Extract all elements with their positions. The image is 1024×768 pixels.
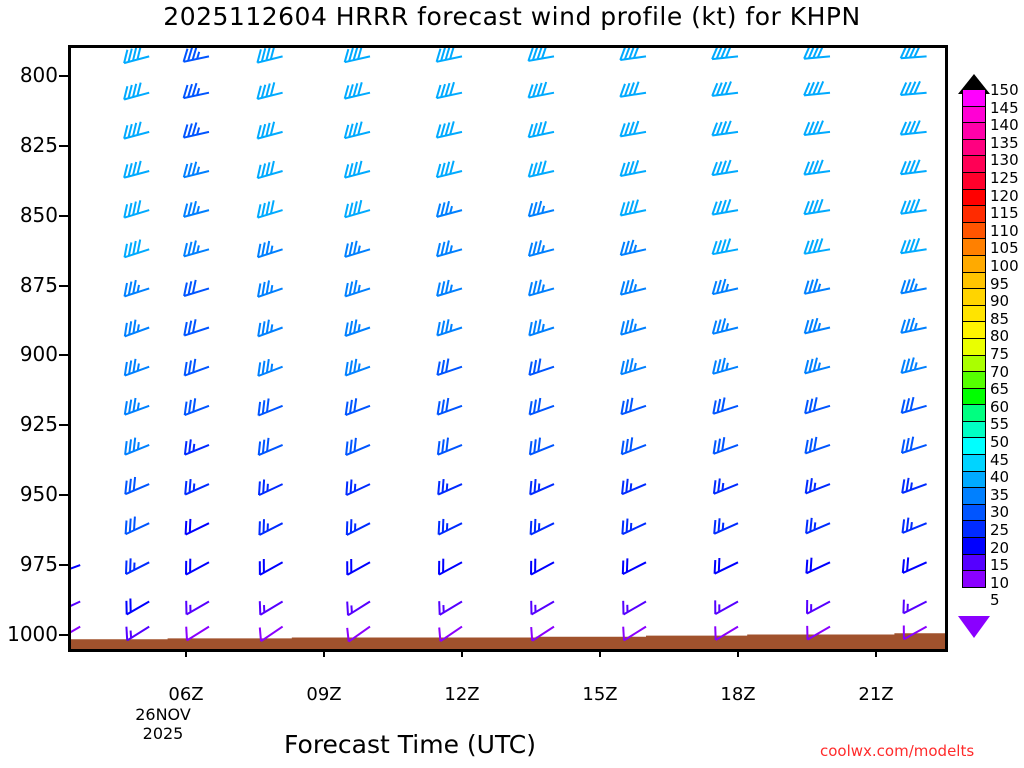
- barb-full: [623, 561, 624, 575]
- wind-barb: [807, 600, 830, 614]
- barb-full: [184, 243, 187, 256]
- colorbar-swatch: [962, 404, 986, 422]
- barb-full: [258, 244, 261, 257]
- barb-shaft: [124, 210, 149, 218]
- wind-barb: [712, 160, 738, 175]
- barb-full: [129, 439, 131, 453]
- watermark-link[interactable]: coolwx.com/modelts: [820, 742, 1020, 760]
- barb-full: [529, 362, 531, 376]
- barb-shaft: [345, 56, 370, 62]
- barb-full: [441, 163, 445, 176]
- wind-barb: [437, 82, 462, 98]
- wind-barb: [345, 122, 370, 139]
- barb-shaft: [804, 171, 830, 175]
- barb-shaft: [713, 249, 739, 254]
- colorbar-tick-label: 130: [990, 153, 1019, 168]
- barb-full: [906, 279, 910, 292]
- wind-barb: [621, 319, 646, 335]
- wind-barb: [530, 398, 554, 415]
- barb-full: [346, 402, 348, 416]
- barb-full: [258, 125, 261, 138]
- barb-full: [257, 49, 261, 62]
- barb-shaft: [184, 56, 209, 61]
- barb-full: [531, 521, 532, 535]
- wind-barb: [621, 200, 646, 216]
- barb-shaft: [71, 627, 80, 640]
- barb-full: [906, 319, 910, 332]
- wind-barb: [126, 558, 149, 574]
- wind-barb: [184, 83, 209, 98]
- wind-barb: [531, 601, 554, 615]
- barb-full: [258, 323, 260, 337]
- barb-full: [349, 84, 353, 97]
- x-axis-tick: [875, 649, 877, 657]
- barb-full: [538, 83, 542, 96]
- barb-full: [193, 241, 196, 254]
- barb-full: [535, 479, 536, 493]
- barb-half: [815, 522, 816, 529]
- barb-full: [903, 519, 905, 533]
- barb-full: [126, 627, 127, 641]
- barb-shaft: [902, 406, 927, 413]
- barb-full: [137, 83, 140, 96]
- barb-full: [626, 360, 629, 373]
- wind-barb: [714, 437, 738, 454]
- y-axis-tick: [59, 75, 68, 77]
- wind-barb: [185, 398, 209, 415]
- barb-full: [129, 49, 132, 62]
- colorbar[interactable]: [962, 90, 986, 588]
- barb-full: [534, 400, 536, 414]
- barb-shaft: [621, 171, 647, 176]
- barb-full: [347, 521, 348, 535]
- wind-barb: [345, 280, 370, 296]
- barb-full: [533, 242, 536, 255]
- colorbar-swatch: [962, 537, 986, 555]
- wind-barb: [804, 121, 830, 135]
- barb-half: [138, 364, 139, 371]
- wind-barb: [347, 559, 370, 575]
- barb-full: [534, 439, 536, 453]
- y-axis-tick-label: 800: [0, 63, 58, 87]
- barb-full: [713, 400, 716, 413]
- barb-full: [358, 200, 361, 213]
- barb-full: [345, 244, 348, 257]
- barb-full: [129, 163, 132, 176]
- wind-barb: [712, 121, 738, 136]
- barb-full: [185, 481, 186, 495]
- barb-full: [441, 84, 445, 97]
- barb-full: [358, 122, 362, 135]
- barb-full: [814, 239, 818, 252]
- barb-full: [903, 559, 904, 573]
- wind-barb: [529, 240, 554, 256]
- barb-full: [626, 479, 627, 493]
- barb-full: [129, 282, 132, 295]
- barb-half: [723, 523, 724, 530]
- barb-shaft: [124, 56, 149, 63]
- barb-full: [818, 48, 824, 57]
- wind-barb: [531, 559, 554, 575]
- wind-barb: [260, 601, 283, 615]
- colorbar-swatch: [962, 255, 986, 273]
- barb-full: [267, 399, 269, 413]
- colorbar-tick-label: 25: [990, 523, 1009, 538]
- barb-full: [259, 442, 260, 456]
- wind-barb: [623, 558, 646, 574]
- wind-barb: [257, 82, 282, 99]
- colorbar-tick-label: 145: [990, 101, 1019, 116]
- barb-full: [533, 202, 537, 215]
- barb-full: [258, 204, 261, 217]
- barb-full: [625, 202, 629, 215]
- y-axis-tick: [59, 494, 68, 496]
- wind-barb: [259, 480, 283, 496]
- barb-full: [814, 318, 818, 331]
- barb-shaft: [438, 445, 462, 455]
- barb-full: [137, 161, 140, 174]
- barb-full: [354, 398, 356, 412]
- barb-full: [125, 323, 127, 337]
- barb-full: [257, 86, 261, 99]
- barb-full: [630, 201, 634, 214]
- barb-full: [262, 242, 265, 256]
- colorbar-swatch: [962, 421, 986, 439]
- barb-full: [621, 202, 625, 215]
- barb-shaft: [258, 328, 282, 337]
- barb-shaft: [345, 210, 370, 217]
- wind-barb: [437, 161, 462, 178]
- wind-barb: [902, 478, 926, 493]
- barb-full: [630, 358, 633, 371]
- wind-barb: [345, 161, 370, 178]
- barb-full: [531, 627, 532, 641]
- barb-full: [722, 437, 724, 451]
- barb-shaft: [901, 171, 927, 174]
- barb-half: [138, 324, 139, 331]
- colorbar-swatch: [962, 520, 986, 538]
- wind-barb: [901, 318, 926, 333]
- barb-full: [534, 321, 537, 334]
- colorbar-swatch: [962, 570, 986, 588]
- barb-full: [190, 479, 191, 493]
- wind-barb: [345, 320, 370, 337]
- barb-shaft: [345, 132, 370, 138]
- barb-shaft: [124, 93, 149, 100]
- barb-shaft: [804, 249, 830, 254]
- wind-barb: [621, 279, 646, 295]
- wind-barb: [622, 519, 646, 535]
- wind-barb: [347, 602, 370, 616]
- barb-full: [443, 519, 444, 533]
- barb-half: [539, 484, 540, 491]
- barb-full: [437, 322, 440, 336]
- barb-full: [133, 84, 136, 97]
- y-axis-tick-label: 900: [0, 342, 58, 366]
- wind-barb: [805, 358, 830, 374]
- wind-barb: [902, 397, 927, 413]
- barb-shaft: [713, 367, 738, 374]
- barb-full: [901, 320, 905, 333]
- wind-barb: [185, 439, 209, 454]
- barb-shaft: [125, 367, 149, 376]
- wind-barb: [712, 48, 738, 59]
- barb-full: [911, 397, 914, 410]
- barb-half: [131, 631, 132, 638]
- barb-full: [630, 161, 634, 174]
- x-axis-tick: [323, 649, 325, 657]
- barb-full: [262, 203, 265, 216]
- barb-full: [184, 164, 188, 177]
- colorbar-tick-label: 70: [990, 365, 1009, 380]
- barb-full: [189, 281, 192, 294]
- barb-full: [804, 241, 808, 254]
- barb-full: [902, 440, 905, 454]
- barb-shaft: [529, 249, 554, 256]
- barb-full: [621, 242, 625, 255]
- barb-full: [533, 281, 536, 294]
- wind-barb: [345, 82, 370, 98]
- barb-half: [542, 324, 543, 331]
- barb-shaft: [437, 132, 462, 138]
- x-axis-tick-label: 09Z: [284, 684, 364, 705]
- barb-full: [124, 86, 127, 99]
- wind-barb: [185, 359, 209, 376]
- barb-full: [533, 48, 537, 60]
- colorbar-tick-label: 5: [990, 593, 1000, 608]
- barb-full: [259, 402, 261, 416]
- wind-barb: [901, 199, 927, 214]
- barb-full: [814, 358, 817, 371]
- wind-barb: [713, 279, 738, 294]
- barb-full: [263, 361, 265, 375]
- barb-full: [133, 48, 136, 61]
- barb-full: [634, 160, 638, 173]
- wind-barb: [806, 518, 830, 534]
- barb-full: [806, 520, 807, 534]
- barb-shaft: [185, 445, 209, 455]
- wind-barb: [439, 601, 462, 615]
- x-axis-tick-label: 15Z: [560, 684, 640, 705]
- barb-full: [189, 321, 192, 334]
- barb-full: [621, 401, 623, 415]
- barb-full: [186, 627, 187, 641]
- barb-half: [447, 484, 448, 491]
- colorbar-swatch: [962, 388, 986, 406]
- barb-half: [194, 484, 195, 491]
- barb-full: [358, 161, 361, 174]
- barb-full: [260, 628, 261, 642]
- barb-shaft: [124, 171, 149, 178]
- barb-shaft: [437, 93, 462, 98]
- barb-shaft: [530, 406, 554, 415]
- wind-barb: [620, 121, 646, 136]
- barb-shaft: [529, 288, 554, 295]
- barb-full: [622, 441, 624, 455]
- barb-full: [542, 82, 546, 95]
- barb-shaft: [345, 288, 370, 296]
- barb-half: [358, 285, 359, 292]
- barb-full: [345, 323, 347, 337]
- barb-full: [726, 160, 731, 173]
- barb-full: [450, 161, 454, 174]
- barb-full: [351, 519, 352, 533]
- barb-full: [622, 521, 623, 535]
- barb-shaft: [258, 132, 283, 139]
- wind-barb: [184, 319, 209, 335]
- barb-full: [717, 201, 721, 214]
- barb-full: [806, 560, 807, 574]
- colorbar-tick-label: 140: [990, 118, 1019, 133]
- barb-full: [621, 321, 624, 334]
- barb-shaft: [804, 210, 830, 214]
- barb-shaft: [805, 367, 830, 374]
- barb-full: [134, 477, 135, 491]
- barb-full: [818, 199, 823, 212]
- barb-shaft: [620, 132, 646, 137]
- barb-full: [346, 481, 347, 495]
- barb-full: [189, 400, 191, 414]
- wind-barb: [901, 160, 927, 174]
- barb-full: [125, 244, 128, 257]
- wind-barb: [714, 479, 738, 494]
- barb-half: [631, 523, 632, 530]
- barb-full: [630, 437, 632, 451]
- barb-full: [259, 481, 260, 495]
- barb-full: [715, 560, 716, 574]
- barb-full: [125, 481, 126, 495]
- barb-shaft: [437, 288, 462, 296]
- barb-full: [538, 48, 542, 59]
- barb-full: [184, 322, 187, 336]
- barb-shaft: [713, 288, 738, 294]
- barb-full: [712, 202, 716, 215]
- y-axis-tick: [59, 564, 68, 566]
- barb-full: [529, 282, 532, 295]
- barb-full: [124, 50, 127, 63]
- barb-shaft: [184, 328, 209, 336]
- barb-full: [441, 48, 445, 61]
- colorbar-tick-label: 80: [990, 329, 1009, 344]
- barb-shaft: [528, 56, 554, 61]
- barb-full: [809, 240, 813, 253]
- barb-full: [529, 203, 533, 216]
- barb-full: [806, 480, 808, 494]
- wind-barb: [438, 479, 462, 495]
- barb-shaft: [437, 328, 462, 336]
- barb-shaft: [901, 288, 927, 293]
- wind-barb: [258, 122, 283, 139]
- barb-full: [184, 85, 188, 98]
- barb-shaft: [621, 367, 646, 375]
- barb-full: [130, 519, 131, 533]
- barb-full: [538, 122, 542, 135]
- barb-full: [714, 520, 715, 534]
- barb-shaft: [712, 210, 738, 215]
- barb-full: [529, 85, 533, 98]
- barb-full: [262, 85, 266, 98]
- barb-shaft: [346, 406, 370, 415]
- barb-full: [133, 359, 135, 373]
- barb-full: [542, 121, 546, 134]
- barb-shaft: [437, 56, 462, 61]
- barb-full: [621, 361, 624, 374]
- barb-full: [263, 480, 264, 494]
- barb-full: [538, 319, 541, 332]
- barb-full: [809, 280, 813, 293]
- barb-shaft: [903, 562, 927, 573]
- wind-barb: [258, 241, 283, 257]
- barb-full: [271, 200, 274, 213]
- colorbar-tick-label: 85: [990, 312, 1009, 327]
- wind-barb: [259, 519, 282, 535]
- wind-barb: [903, 518, 927, 533]
- barb-full: [528, 48, 532, 61]
- wind-barb: [529, 161, 554, 177]
- barb-full: [446, 241, 449, 254]
- barb-shaft: [71, 565, 80, 574]
- y-axis-tick-label: 825: [0, 133, 58, 157]
- barb-shaft: [529, 93, 555, 98]
- barb-full: [717, 240, 721, 253]
- wind-barb: [71, 559, 80, 574]
- colorbar-tick-label: 105: [990, 241, 1019, 256]
- barb-shaft: [530, 445, 554, 455]
- colorbar-tick-label: 50: [990, 435, 1009, 450]
- barb-full: [903, 600, 904, 614]
- barb-full: [258, 362, 260, 376]
- barb-full: [133, 398, 135, 412]
- barb-full: [810, 399, 813, 412]
- barb-half: [359, 364, 360, 371]
- barb-shaft: [712, 93, 738, 96]
- colorbar-tick-label: 30: [990, 505, 1009, 520]
- barb-full: [814, 397, 817, 410]
- barb-full: [354, 83, 358, 96]
- barb-full: [184, 49, 188, 62]
- barb-shaft: [184, 171, 209, 177]
- barb-full: [184, 125, 188, 138]
- barb-shaft: [185, 484, 209, 495]
- barb-half: [722, 483, 723, 490]
- wind-barb: [126, 599, 149, 615]
- barb-full: [538, 201, 542, 214]
- barb-full: [267, 241, 270, 255]
- barb-full: [718, 479, 720, 493]
- wind-barb: [438, 438, 462, 455]
- y-axis-tick-label: 1000: [0, 622, 58, 646]
- barb-full: [185, 362, 187, 376]
- barb-full: [722, 318, 726, 331]
- barb-full: [634, 200, 638, 213]
- x-axis-tick-label: 18Z: [698, 684, 778, 705]
- barb-full: [625, 241, 629, 254]
- barb-full: [901, 360, 905, 373]
- barb-full: [350, 361, 352, 375]
- barb-full: [266, 123, 269, 136]
- colorbar-swatch: [962, 272, 986, 290]
- colorbar-swatch: [962, 504, 986, 522]
- barb-full: [437, 204, 440, 217]
- barb-full: [441, 202, 444, 215]
- barb-full: [350, 282, 353, 295]
- barb-full: [134, 438, 136, 452]
- barb-shaft: [529, 328, 554, 336]
- barb-full: [906, 398, 909, 411]
- barb-full: [538, 438, 540, 452]
- colorbar-swatch: [962, 205, 986, 223]
- y-axis-tick: [59, 354, 68, 356]
